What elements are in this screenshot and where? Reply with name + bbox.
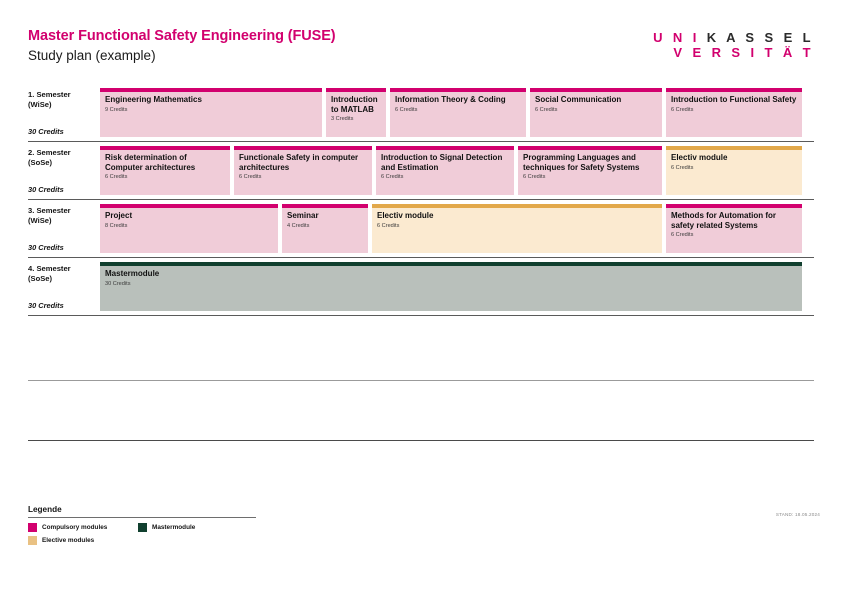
module-mastermodule[interactable]: Mastermodule 30 Credits (100, 262, 802, 311)
semester-1-name: 1. Semester (28, 90, 98, 100)
module-credits: 6 Credits (377, 222, 657, 230)
module-credits: 6 Credits (239, 173, 367, 181)
module-body: Information Theory & Coding 6 Credits (390, 92, 526, 137)
module-credits: 30 Credits (105, 280, 797, 288)
module-title: Social Communication (535, 95, 657, 105)
semester-row-1: 1. Semester (WiSe) 30 Credits Engineerin… (28, 84, 814, 142)
module-title: Introduction to Signal Detection and Est… (381, 153, 509, 172)
module-title: Methods for Automation for safety relate… (671, 211, 797, 230)
legend-label: Mastermodule (152, 524, 195, 531)
uni-kassel-logo: U N I K A S S E L V E R S I T Ä T (653, 30, 814, 60)
semester-4-name: 4. Semester (28, 264, 98, 274)
module-credits: 4 Credits (287, 222, 363, 230)
module-body: Methods for Automation for safety relate… (666, 208, 802, 253)
separator-rule-2 (28, 440, 814, 441)
module-body: Social Communication 6 Credits (530, 92, 662, 137)
semester-2-credits: 30 Credits (28, 185, 64, 194)
semester-3-term: (WiSe) (28, 216, 98, 226)
module-project[interactable]: Project 8 Credits (100, 204, 278, 253)
legend: Legende Compulsory modules Elective modu… (28, 505, 814, 549)
module-title: Introduction to MATLAB (331, 95, 381, 114)
module-signal-detection-estimation[interactable]: Introduction to Signal Detection and Est… (376, 146, 514, 195)
module-credits: 6 Credits (671, 164, 797, 172)
legend-label: Elective modules (42, 537, 94, 544)
module-credits: 6 Credits (535, 106, 657, 114)
semester-1-credits: 30 Credits (28, 127, 64, 136)
semester-3-credits: 30 Credits (28, 243, 64, 252)
module-body: Engineering Mathematics 9 Credits (100, 92, 322, 137)
semester-4-term: (SoSe) (28, 274, 98, 284)
revision-stamp: STAND: 18.05.2024 (776, 512, 820, 517)
legend-item-elective: Elective modules (28, 536, 94, 545)
module-body: Programming Languages and techniques for… (518, 150, 662, 195)
logo-kassel-text: K A S S E L (707, 30, 814, 45)
semester-2-modules: Risk determination of Computer architect… (100, 146, 814, 195)
module-introduction-to-matlab[interactable]: Introduction to MATLAB 3 Credits (326, 88, 386, 137)
module-body: Mastermodule 30 Credits (100, 266, 802, 311)
master-swatch-icon (138, 523, 147, 532)
module-body: Functionale Safety in computer architect… (234, 150, 372, 195)
module-credits: 3 Credits (331, 115, 381, 123)
module-credits: 9 Credits (105, 106, 317, 114)
module-electiv-module-sem2[interactable]: Electiv module 6 Credits (666, 146, 802, 195)
semester-row-2: 2. Semester (SoSe) 30 Credits Risk deter… (28, 142, 814, 200)
module-body: Electiv module 6 Credits (372, 208, 662, 253)
module-title: Information Theory & Coding (395, 95, 521, 105)
separator-rule-1 (28, 380, 814, 381)
module-credits: 6 Credits (671, 106, 797, 114)
legend-divider (28, 517, 256, 518)
module-title: Electiv module (671, 153, 797, 163)
module-title: Project (105, 211, 273, 221)
semester-2-term: (SoSe) (28, 158, 98, 168)
module-body: Introduction to MATLAB 3 Credits (326, 92, 386, 137)
study-plan-grid: 1. Semester (WiSe) 30 Credits Engineerin… (28, 84, 814, 316)
module-social-communication[interactable]: Social Communication 6 Credits (530, 88, 662, 137)
module-credits: 6 Credits (395, 106, 521, 114)
legend-items: Compulsory modules Elective modules Mast… (28, 523, 814, 549)
module-title: Mastermodule (105, 269, 797, 279)
module-credits: 6 Credits (381, 173, 509, 181)
legend-item-compulsory: Compulsory modules (28, 523, 107, 532)
module-engineering-mathematics[interactable]: Engineering Mathematics 9 Credits (100, 88, 322, 137)
module-seminar[interactable]: Seminar 4 Credits (282, 204, 368, 253)
semester-row-4: 4. Semester (SoSe) 30 Credits Mastermodu… (28, 258, 814, 316)
semester-row-3: 3. Semester (WiSe) 30 Credits Project 8 … (28, 200, 814, 258)
module-title: Risk determination of Computer architect… (105, 153, 225, 172)
semester-4-label: 4. Semester (SoSe) (28, 264, 98, 284)
module-body: Risk determination of Computer architect… (100, 150, 230, 195)
module-risk-determination[interactable]: Risk determination of Computer architect… (100, 146, 230, 195)
page-header: Master Functional Safety Engineering (FU… (28, 28, 814, 72)
elective-swatch-icon (28, 536, 37, 545)
module-title: Engineering Mathematics (105, 95, 317, 105)
logo-line-top: U N I K A S S E L (653, 30, 814, 45)
module-title: Programming Languages and techniques for… (523, 153, 657, 172)
study-plan-page: Master Functional Safety Engineering (FU… (0, 0, 842, 595)
legend-title: Legende (28, 505, 814, 514)
semester-4-modules: Mastermodule 30 Credits (100, 262, 814, 311)
module-title: Seminar (287, 211, 363, 221)
module-information-theory-coding[interactable]: Information Theory & Coding 6 Credits (390, 88, 526, 137)
page-subtitle: Study plan (example) (28, 47, 336, 65)
semester-3-name: 3. Semester (28, 206, 98, 216)
module-body: Electiv module 6 Credits (666, 150, 802, 195)
semester-2-name: 2. Semester (28, 148, 98, 158)
semester-2-label: 2. Semester (SoSe) (28, 148, 98, 168)
module-credits: 6 Credits (671, 231, 797, 239)
module-methods-automation-safety[interactable]: Methods for Automation for safety relate… (666, 204, 802, 253)
semester-3-modules: Project 8 Credits Seminar 4 Credits Elec… (100, 204, 814, 253)
module-title: Introduction to Functional Safety (671, 95, 797, 105)
module-body: Introduction to Signal Detection and Est… (376, 150, 514, 195)
module-body: Seminar 4 Credits (282, 208, 368, 253)
module-programming-languages-safety[interactable]: Programming Languages and techniques for… (518, 146, 662, 195)
module-body: Introduction to Functional Safety 6 Cred… (666, 92, 802, 137)
compulsory-swatch-icon (28, 523, 37, 532)
logo-versitaet-text: V E R S I T Ä T (653, 45, 814, 60)
module-body: Project 8 Credits (100, 208, 278, 253)
module-title: Functionale Safety in computer architect… (239, 153, 367, 172)
legend-item-mastermodule: Mastermodule (138, 523, 195, 532)
logo-uni-text: U N I (653, 30, 700, 45)
module-credits: 8 Credits (105, 222, 273, 230)
module-introduction-functional-safety[interactable]: Introduction to Functional Safety 6 Cred… (666, 88, 802, 137)
semester-1-modules: Engineering Mathematics 9 Credits Introd… (100, 88, 814, 137)
module-credits: 6 Credits (523, 173, 657, 181)
module-functionale-safety-computer-architectures[interactable]: Functionale Safety in computer architect… (234, 146, 372, 195)
semester-1-label: 1. Semester (WiSe) (28, 90, 98, 110)
legend-label: Compulsory modules (42, 524, 107, 531)
semester-4-credits: 30 Credits (28, 301, 64, 310)
title-block: Master Functional Safety Engineering (FU… (28, 28, 336, 65)
semester-3-label: 3. Semester (WiSe) (28, 206, 98, 226)
module-title: Electiv module (377, 211, 657, 221)
module-electiv-module-sem3[interactable]: Electiv module 6 Credits (372, 204, 662, 253)
module-credits: 6 Credits (105, 173, 225, 181)
semester-1-term: (WiSe) (28, 100, 98, 110)
page-title: Master Functional Safety Engineering (FU… (28, 28, 336, 45)
